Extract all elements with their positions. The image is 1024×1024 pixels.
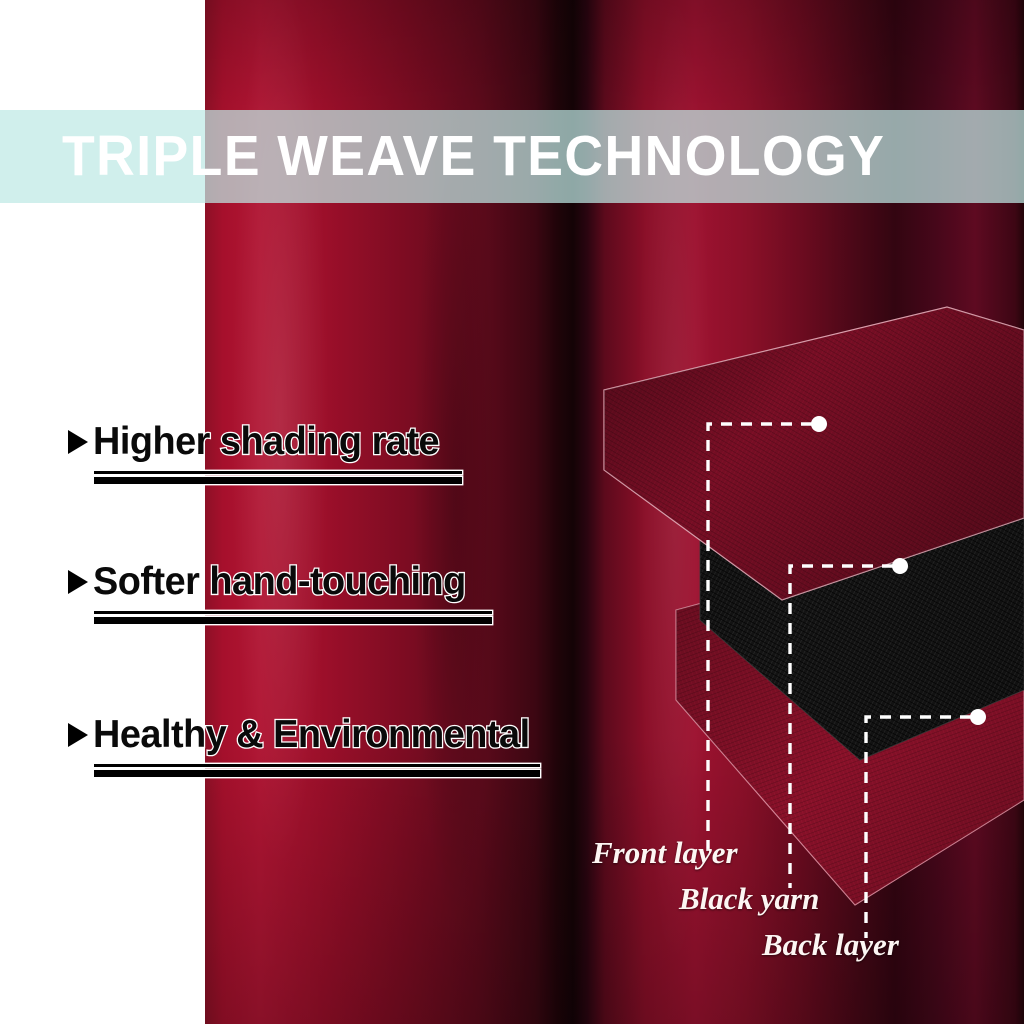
triangle-bullet-icon [68,430,88,454]
feature-underline-3 [94,764,540,778]
callout-dot-front-layer [811,416,827,432]
label-black-yarn: Black yarn [679,881,819,917]
triangle-bullet-icon [68,723,88,747]
triangle-bullet-icon [68,570,88,594]
feature-item-1: Higher shading rate [68,422,462,484]
feature-item-2: Softer hand-touching [68,562,492,624]
feature-label-2: Softer hand-touching [93,562,466,603]
label-back-layer: Back layer [762,927,899,963]
headline-banner: TRIPLE WEAVE TECHNOLOGY [0,110,1024,203]
feature-label-3: Healthy & Environmental [93,715,530,756]
feature-item-3: Healthy & Environmental [68,715,543,777]
label-front-layer: Front layer [592,835,738,871]
banner-title: TRIPLE WEAVE TECHNOLOGY [62,128,885,185]
feature-label-1: Higher shading rate [93,422,439,463]
callout-dot-back-layer [970,709,986,725]
product-infographic: TRIPLE WEAVE TECHNOLOGY Higher shading r… [0,0,1024,1024]
callout-dot-black-yarn [892,558,908,574]
feature-underline-1 [94,471,462,485]
feature-underline-2 [94,611,492,625]
